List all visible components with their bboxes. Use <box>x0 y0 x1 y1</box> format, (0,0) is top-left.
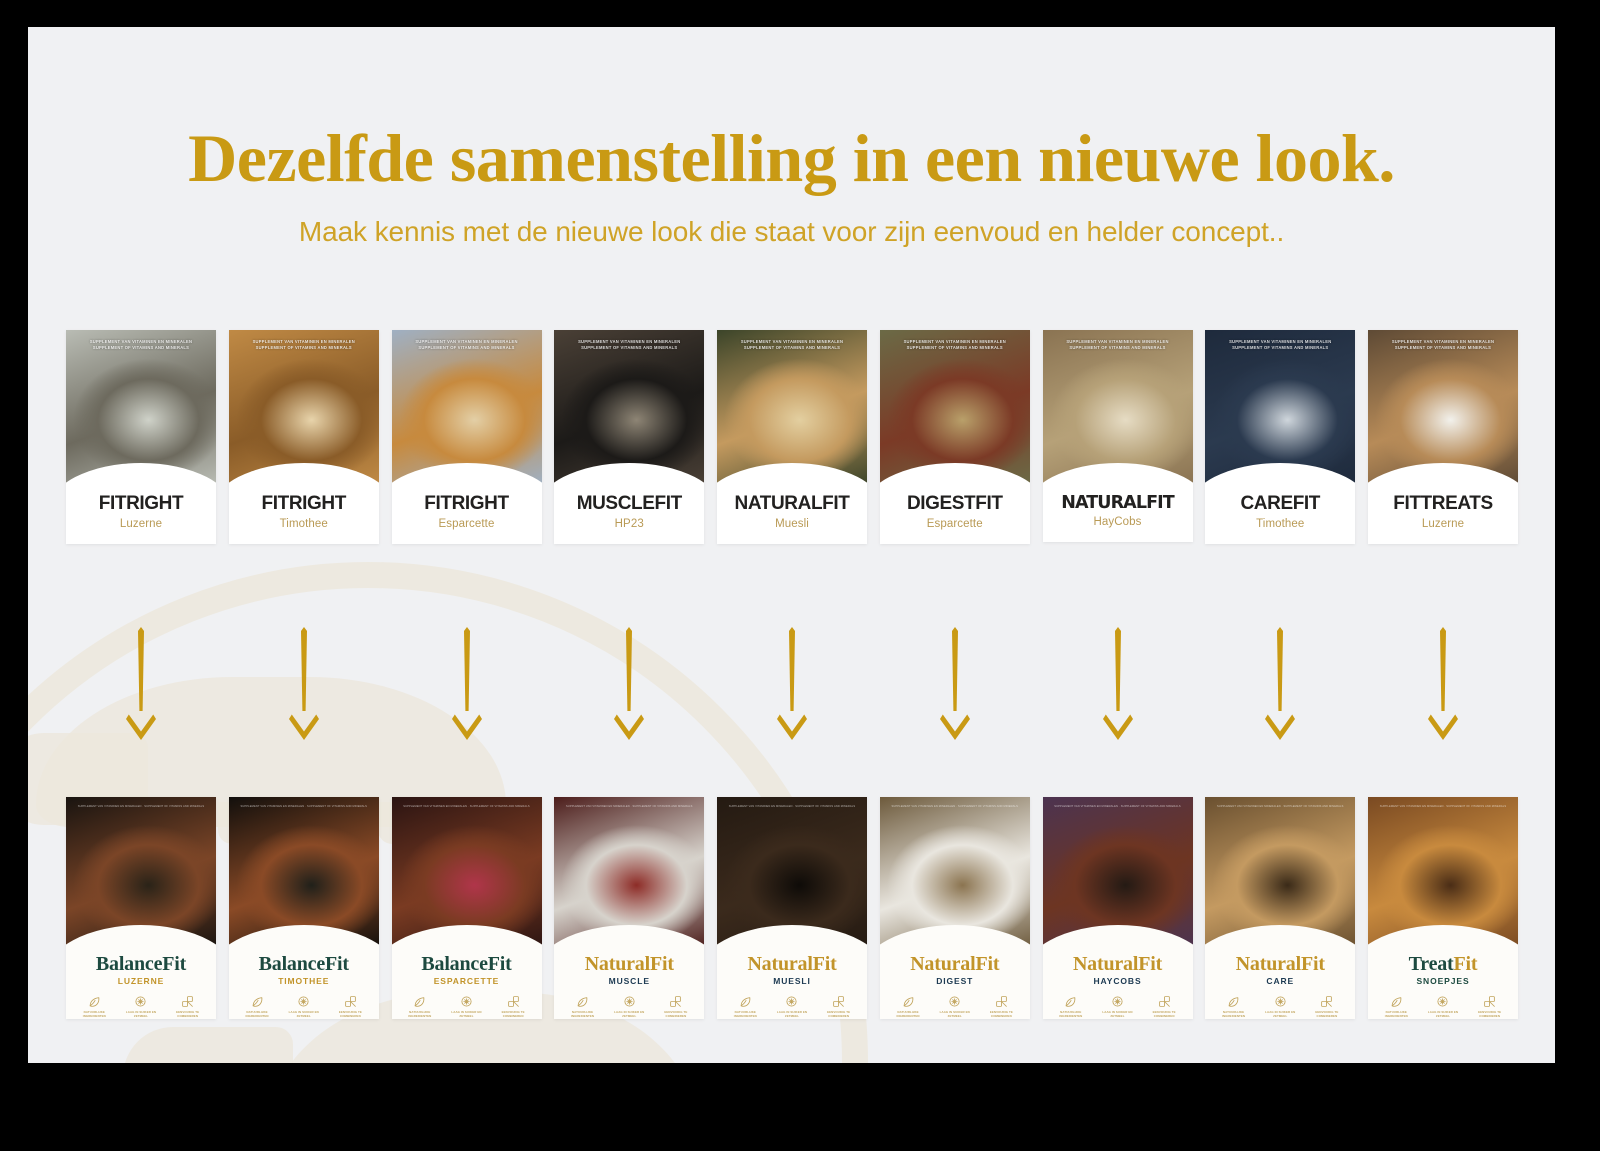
feature-badge-label: NATUURLIJKE INGREDIENTEN <box>1376 1011 1417 1019</box>
new-product-variant: CARE <box>1209 976 1351 986</box>
feature-badge: EENVOUDIG TE COMBINEREN <box>492 995 533 1019</box>
leaf-icon <box>74 995 115 1008</box>
old-product-photo: SUPPLEMENT VAN VITAMINEN EN MINERALENSUP… <box>1205 330 1355 485</box>
old-product-label: CAREFITTimothee <box>1205 485 1355 544</box>
new-product-brand: NaturalFit <box>558 953 700 975</box>
mix-icon <box>981 995 1022 1008</box>
old-product-photo: SUPPLEMENT VAN VITAMINEN EN MINERALENSUP… <box>1043 330 1193 485</box>
sugar-cube-icon <box>283 995 324 1008</box>
feature-badge: EENVOUDIG TE COMBINEREN <box>818 995 859 1019</box>
old-product-card[interactable]: SUPPLEMENT VAN VITAMINEN EN MINERALENSUP… <box>1043 330 1193 542</box>
new-product-card[interactable]: SUPPLEMENT VAN VITAMINEN EN MINERALEN · … <box>229 797 379 1019</box>
feature-badge-label: NATUURLIJKE INGREDIENTEN <box>887 1011 928 1019</box>
new-product-photo: SUPPLEMENT VAN VITAMINEN EN MINERALEN · … <box>1205 797 1355 949</box>
old-product-card[interactable]: SUPPLEMENT VAN VITAMINEN EN MINERALENSUP… <box>880 330 1030 544</box>
supplement-claim: SUPPLEMENT VAN VITAMINEN EN MINERALENSUP… <box>73 339 209 352</box>
feature-badge-label: EENVOUDIG TE COMBINEREN <box>655 1011 696 1019</box>
old-product-label: NATURALFITMuesli <box>717 485 867 544</box>
feature-badge: NATUURLIJKE INGREDIENTEN <box>562 995 603 1019</box>
old-product-name: FITTREATS <box>1372 493 1514 515</box>
new-product-label: BalanceFitLUZERNE <box>66 949 216 986</box>
old-product-photo: SUPPLEMENT VAN VITAMINEN EN MINERALENSUP… <box>880 330 1030 485</box>
new-product-photo: SUPPLEMENT VAN VITAMINEN EN MINERALEN · … <box>1043 797 1193 949</box>
feature-badge-label: EENVOUDIG TE COMBINEREN <box>1143 1011 1184 1019</box>
new-product-label: NaturalFitDIGEST <box>880 949 1030 986</box>
sugar-cube-icon <box>771 995 812 1008</box>
feature-badge-label: EENVOUDIG TE COMBINEREN <box>1306 1011 1347 1019</box>
old-product-variant: Luzerne <box>1372 518 1514 530</box>
old-product-photo: SUPPLEMENT VAN VITAMINEN EN MINERALENSUP… <box>229 330 379 485</box>
old-product-variant: Esparcette <box>884 518 1026 530</box>
old-product-variant: Timothee <box>233 518 375 530</box>
feature-badge: EENVOUDIG TE COMBINEREN <box>1306 995 1347 1019</box>
down-arrow-icon <box>1263 627 1297 747</box>
new-product-photo: SUPPLEMENT VAN VITAMINEN EN MINERALEN · … <box>66 797 216 949</box>
feature-badge: EENVOUDIG TE COMBINEREN <box>1469 995 1510 1019</box>
supplement-claim: SUPPLEMENT VAN VITAMINEN EN MINERALEN · … <box>237 805 371 809</box>
old-product-label: FITTREATSLuzerne <box>1368 485 1518 544</box>
feature-badges: NATUURLIJKE INGREDIENTENLAAG IN SUIKER E… <box>66 986 216 1019</box>
feature-badge-label: EENVOUDIG TE COMBINEREN <box>330 1011 371 1019</box>
feature-badge-label: EENVOUDIG TE COMBINEREN <box>492 1011 533 1019</box>
old-product-card[interactable]: SUPPLEMENT VAN VITAMINEN EN MINERALENSUP… <box>229 330 379 544</box>
mix-icon <box>655 995 696 1008</box>
new-product-photo: SUPPLEMENT VAN VITAMINEN EN MINERALEN · … <box>554 797 704 949</box>
feature-badge-label: NATUURLIJKE INGREDIENTEN <box>1213 1011 1254 1019</box>
leaf-icon <box>725 995 766 1008</box>
down-arrow-icon <box>287 627 321 747</box>
leaf-icon <box>887 995 928 1008</box>
new-product-label: BalanceFitTIMOTHEE <box>229 949 379 986</box>
horse-photo <box>554 330 704 485</box>
new-product-brand: NaturalFit <box>1047 953 1189 975</box>
new-product-card[interactable]: SUPPLEMENT VAN VITAMINEN EN MINERALEN · … <box>66 797 216 1019</box>
mix-icon <box>330 995 371 1008</box>
new-product-card[interactable]: SUPPLEMENT VAN VITAMINEN EN MINERALEN · … <box>717 797 867 1019</box>
old-product-name: CAREFIT <box>1209 493 1351 515</box>
sugar-cube-icon <box>120 995 161 1008</box>
old-product-name: NATURALFIT <box>1047 493 1189 513</box>
old-product-photo: SUPPLEMENT VAN VITAMINEN EN MINERALENSUP… <box>66 330 216 485</box>
old-product-variant: HP23 <box>558 518 700 530</box>
new-product-variant: TIMOTHEE <box>233 976 375 986</box>
feature-badge: NATUURLIJKE INGREDIENTEN <box>725 995 766 1019</box>
arrow-cell <box>1368 627 1518 747</box>
feature-badge: LAAG IN SUIKER EN ZETMEEL <box>771 995 812 1019</box>
feature-badge-label: LAAG IN SUIKER EN ZETMEEL <box>120 1011 161 1019</box>
feature-badge: NATUURLIJKE INGREDIENTEN <box>399 995 440 1019</box>
old-product-variant: Muesli <box>721 518 863 530</box>
arrow-cell <box>66 627 216 747</box>
feature-badge: EENVOUDIG TE COMBINEREN <box>167 995 208 1019</box>
supplement-claim: SUPPLEMENT VAN VITAMINEN EN MINERALEN · … <box>562 805 696 809</box>
old-product-label: FITRIGHTEsparcette <box>392 485 542 544</box>
new-product-variant: DIGEST <box>884 976 1026 986</box>
feature-badge: NATUURLIJKE INGREDIENTEN <box>1376 995 1417 1019</box>
new-product-label: NaturalFitMUSCLE <box>554 949 704 986</box>
old-product-label: FITRIGHTTimothee <box>229 485 379 544</box>
new-product-card[interactable]: SUPPLEMENT VAN VITAMINEN EN MINERALEN · … <box>880 797 1030 1019</box>
arrow-cell <box>1043 627 1193 747</box>
sugar-cube-icon <box>609 995 650 1008</box>
down-arrow-icon <box>775 627 809 747</box>
feature-badges: NATUURLIJKE INGREDIENTENLAAG IN SUIKER E… <box>392 986 542 1019</box>
feature-badge: LAAG IN SUIKER EN ZETMEEL <box>1260 995 1301 1019</box>
new-product-card[interactable]: SUPPLEMENT VAN VITAMINEN EN MINERALEN · … <box>554 797 704 1019</box>
new-product-brand: NaturalFit <box>1209 953 1351 975</box>
feature-badge: LAAG IN SUIKER EN ZETMEEL <box>1422 995 1463 1019</box>
new-product-label: NaturalFitMUESLI <box>717 949 867 986</box>
down-arrow-icon <box>124 627 158 747</box>
new-product-brand: TreatFit <box>1372 953 1514 975</box>
feature-badges: NATUURLIJKE INGREDIENTENLAAG IN SUIKER E… <box>717 986 867 1019</box>
new-product-card[interactable]: SUPPLEMENT VAN VITAMINEN EN MINERALEN · … <box>1205 797 1355 1019</box>
leaf-icon <box>1050 995 1091 1008</box>
supplement-claim: SUPPLEMENT VAN VITAMINEN EN MINERALEN · … <box>1213 805 1347 809</box>
feature-badge: NATUURLIJKE INGREDIENTEN <box>1050 995 1091 1019</box>
horse-photo <box>717 330 867 485</box>
page-title: Dezelfde samenstelling in een nieuwe loo… <box>28 123 1555 194</box>
old-product-name: NATURALFIT <box>721 493 863 515</box>
feature-badge: EENVOUDIG TE COMBINEREN <box>655 995 696 1019</box>
sugar-cube-icon <box>446 995 487 1008</box>
down-arrow-icon <box>938 627 972 747</box>
horse-photo <box>1205 330 1355 485</box>
old-product-card[interactable]: SUPPLEMENT VAN VITAMINEN EN MINERALENSUP… <box>717 330 867 544</box>
arrow-cell <box>392 627 542 747</box>
heading-block: Dezelfde samenstelling in een nieuwe loo… <box>28 123 1555 248</box>
feature-badges: NATUURLIJKE INGREDIENTENLAAG IN SUIKER E… <box>1043 986 1193 1019</box>
mix-icon <box>1143 995 1184 1008</box>
feature-badges: NATUURLIJKE INGREDIENTENLAAG IN SUIKER E… <box>1368 986 1518 1019</box>
new-product-label: NaturalFitHAYCOBS <box>1043 949 1193 986</box>
poster-page: Dezelfde samenstelling in een nieuwe loo… <box>28 27 1555 1063</box>
feature-badge-label: NATUURLIJKE INGREDIENTEN <box>725 1011 766 1019</box>
feature-badge-label: NATUURLIJKE INGREDIENTEN <box>399 1011 440 1019</box>
feature-badge-label: LAAG IN SUIKER EN ZETMEEL <box>934 1011 975 1019</box>
old-product-name: FITRIGHT <box>233 493 375 515</box>
old-product-photo: SUPPLEMENT VAN VITAMINEN EN MINERALENSUP… <box>554 330 704 485</box>
arrow-cell <box>554 627 704 747</box>
mix-icon <box>818 995 859 1008</box>
arrow-cell <box>1205 627 1355 747</box>
supplement-claim: SUPPLEMENT VAN VITAMINEN EN MINERALEN · … <box>1051 805 1185 809</box>
new-product-brand: NaturalFit <box>721 953 863 975</box>
old-product-label: FITRIGHTLuzerne <box>66 485 216 544</box>
feature-badge-label: EENVOUDIG TE COMBINEREN <box>1469 1011 1510 1019</box>
down-arrow-icon <box>1101 627 1135 747</box>
leaf-icon <box>562 995 603 1008</box>
mix-icon <box>492 995 533 1008</box>
horse-photo <box>392 330 542 485</box>
old-product-photo: SUPPLEMENT VAN VITAMINEN EN MINERALENSUP… <box>392 330 542 485</box>
feature-badge-label: LAAG IN SUIKER EN ZETMEEL <box>771 1011 812 1019</box>
feature-badge: LAAG IN SUIKER EN ZETMEEL <box>1097 995 1138 1019</box>
old-product-name: DIGESTFIT <box>884 493 1026 515</box>
new-product-card[interactable]: SUPPLEMENT VAN VITAMINEN EN MINERALEN · … <box>1368 797 1518 1019</box>
feature-badge-label: NATUURLIJKE INGREDIENTEN <box>74 1011 115 1019</box>
horse-photo <box>66 330 216 485</box>
leaf-icon <box>1376 995 1417 1008</box>
new-product-variant: MUESLI <box>721 976 863 986</box>
feature-badge: EENVOUDIG TE COMBINEREN <box>330 995 371 1019</box>
leaf-icon <box>399 995 440 1008</box>
old-product-card[interactable]: SUPPLEMENT VAN VITAMINEN EN MINERALENSUP… <box>392 330 542 544</box>
supplement-claim: SUPPLEMENT VAN VITAMINEN EN MINERALEN · … <box>400 805 534 809</box>
new-product-variant: LUZERNE <box>70 976 212 986</box>
old-product-photo: SUPPLEMENT VAN VITAMINEN EN MINERALENSUP… <box>717 330 867 485</box>
supplement-claim: SUPPLEMENT VAN VITAMINEN EN MINERALENSUP… <box>1212 339 1348 352</box>
horse-photo <box>229 330 379 485</box>
supplement-claim: SUPPLEMENT VAN VITAMINEN EN MINERALENSUP… <box>399 339 535 352</box>
new-product-card[interactable]: SUPPLEMENT VAN VITAMINEN EN MINERALEN · … <box>1043 797 1193 1019</box>
feature-badges: NATUURLIJKE INGREDIENTENLAAG IN SUIKER E… <box>229 986 379 1019</box>
down-arrow-icon <box>1426 627 1460 747</box>
old-product-label: DIGESTFITEsparcette <box>880 485 1030 544</box>
feature-badges: NATUURLIJKE INGREDIENTENLAAG IN SUIKER E… <box>1205 986 1355 1019</box>
watermark-horse-head-2 <box>123 1027 293 1063</box>
old-product-name: FITRIGHT <box>396 493 538 515</box>
old-product-label: NATURALFITHayCobs <box>1043 485 1193 542</box>
old-product-card[interactable]: SUPPLEMENT VAN VITAMINEN EN MINERALENSUP… <box>1205 330 1355 544</box>
new-product-variant: ESPARCETTE <box>396 976 538 986</box>
feature-badge: NATUURLIJKE INGREDIENTEN <box>1213 995 1254 1019</box>
new-product-label: TreatFitSNOEPJES <box>1368 949 1518 986</box>
feature-badge: NATUURLIJKE INGREDIENTEN <box>887 995 928 1019</box>
new-products-row: SUPPLEMENT VAN VITAMINEN EN MINERALEN · … <box>66 797 1518 1019</box>
old-product-name: FITRIGHT <box>70 493 212 515</box>
horse-photo <box>1368 330 1518 485</box>
new-product-variant: SNOEPJES <box>1372 976 1514 986</box>
down-arrow-icon <box>612 627 646 747</box>
feature-badge: LAAG IN SUIKER EN ZETMEEL <box>609 995 650 1019</box>
page-subtitle: Maak kennis met de nieuwe look die staat… <box>28 216 1555 248</box>
feature-badges: NATUURLIJKE INGREDIENTENLAAG IN SUIKER E… <box>554 986 704 1019</box>
feature-badge: NATUURLIJKE INGREDIENTEN <box>74 995 115 1019</box>
new-product-brand: BalanceFit <box>396 953 538 975</box>
feature-badge: NATUURLIJKE INGREDIENTEN <box>236 995 277 1019</box>
feature-badge-label: LAAG IN SUIKER EN ZETMEEL <box>1422 1011 1463 1019</box>
old-products-row: SUPPLEMENT VAN VITAMINEN EN MINERALENSUP… <box>66 330 1518 544</box>
mix-icon <box>1306 995 1347 1008</box>
arrow-cell <box>880 627 1030 747</box>
new-product-brand: BalanceFit <box>70 953 212 975</box>
new-product-brand: NaturalFit <box>884 953 1026 975</box>
supplement-claim: SUPPLEMENT VAN VITAMINEN EN MINERALENSUP… <box>236 339 372 352</box>
new-product-label: BalanceFitESPARCETTE <box>392 949 542 986</box>
feature-badge-label: LAAG IN SUIKER EN ZETMEEL <box>1260 1011 1301 1019</box>
feature-badge: LAAG IN SUIKER EN ZETMEEL <box>120 995 161 1019</box>
supplement-claim: SUPPLEMENT VAN VITAMINEN EN MINERALENSUP… <box>887 339 1023 352</box>
supplement-claim: SUPPLEMENT VAN VITAMINEN EN MINERALENSUP… <box>1375 339 1511 352</box>
mix-icon <box>167 995 208 1008</box>
new-product-photo: SUPPLEMENT VAN VITAMINEN EN MINERALEN · … <box>392 797 542 949</box>
supplement-claim: SUPPLEMENT VAN VITAMINEN EN MINERALEN · … <box>74 805 208 809</box>
new-product-variant: MUSCLE <box>558 976 700 986</box>
new-product-label: NaturalFitCARE <box>1205 949 1355 986</box>
supplement-claim: SUPPLEMENT VAN VITAMINEN EN MINERALEN · … <box>725 805 859 809</box>
leaf-icon <box>236 995 277 1008</box>
old-product-variant: Esparcette <box>396 518 538 530</box>
supplement-claim: SUPPLEMENT VAN VITAMINEN EN MINERALEN · … <box>1376 805 1510 809</box>
new-product-card[interactable]: SUPPLEMENT VAN VITAMINEN EN MINERALEN · … <box>392 797 542 1019</box>
old-product-card[interactable]: SUPPLEMENT VAN VITAMINEN EN MINERALENSUP… <box>554 330 704 544</box>
new-product-photo: SUPPLEMENT VAN VITAMINEN EN MINERALEN · … <box>229 797 379 949</box>
feature-badge: LAAG IN SUIKER EN ZETMEEL <box>934 995 975 1019</box>
supplement-claim: SUPPLEMENT VAN VITAMINEN EN MINERALEN · … <box>888 805 1022 809</box>
old-product-name: MUSCLEFIT <box>558 493 700 515</box>
feature-badge: LAAG IN SUIKER EN ZETMEEL <box>283 995 324 1019</box>
new-product-photo: SUPPLEMENT VAN VITAMINEN EN MINERALEN · … <box>880 797 1030 949</box>
feature-badge-label: LAAG IN SUIKER EN ZETMEEL <box>609 1011 650 1019</box>
supplement-claim: SUPPLEMENT VAN VITAMINEN EN MINERALENSUP… <box>724 339 860 352</box>
transition-arrows <box>66 627 1518 747</box>
feature-badge: LAAG IN SUIKER EN ZETMEEL <box>446 995 487 1019</box>
arrow-cell <box>717 627 867 747</box>
new-product-variant: HAYCOBS <box>1047 976 1189 986</box>
old-product-photo: SUPPLEMENT VAN VITAMINEN EN MINERALENSUP… <box>1368 330 1518 485</box>
arrow-cell <box>229 627 379 747</box>
feature-badges: NATUURLIJKE INGREDIENTENLAAG IN SUIKER E… <box>880 986 1030 1019</box>
feature-badge-label: LAAG IN SUIKER EN ZETMEEL <box>446 1011 487 1019</box>
old-product-variant: HayCobs <box>1047 516 1189 528</box>
feature-badge-label: NATUURLIJKE INGREDIENTEN <box>562 1011 603 1019</box>
feature-badge: EENVOUDIG TE COMBINEREN <box>1143 995 1184 1019</box>
leaf-icon <box>1213 995 1254 1008</box>
feature-badge-label: LAAG IN SUIKER EN ZETMEEL <box>283 1011 324 1019</box>
horse-photo <box>880 330 1030 485</box>
new-product-brand: BalanceFit <box>233 953 375 975</box>
horse-photo <box>1043 330 1193 485</box>
sugar-cube-icon <box>1097 995 1138 1008</box>
feature-badge: EENVOUDIG TE COMBINEREN <box>981 995 1022 1019</box>
new-product-photo: SUPPLEMENT VAN VITAMINEN EN MINERALEN · … <box>717 797 867 949</box>
down-arrow-icon <box>450 627 484 747</box>
new-product-photo: SUPPLEMENT VAN VITAMINEN EN MINERALEN · … <box>1368 797 1518 949</box>
old-product-card[interactable]: SUPPLEMENT VAN VITAMINEN EN MINERALENSUP… <box>66 330 216 544</box>
old-product-card[interactable]: SUPPLEMENT VAN VITAMINEN EN MINERALENSUP… <box>1368 330 1518 544</box>
feature-badge-label: EENVOUDIG TE COMBINEREN <box>981 1011 1022 1019</box>
feature-badge-label: LAAG IN SUIKER EN ZETMEEL <box>1097 1011 1138 1019</box>
old-product-label: MUSCLEFITHP23 <box>554 485 704 544</box>
sugar-cube-icon <box>1422 995 1463 1008</box>
old-product-variant: Timothee <box>1209 518 1351 530</box>
sugar-cube-icon <box>1260 995 1301 1008</box>
feature-badge-label: NATUURLIJKE INGREDIENTEN <box>1050 1011 1091 1019</box>
feature-badge-label: EENVOUDIG TE COMBINEREN <box>818 1011 859 1019</box>
feature-badge-label: NATUURLIJKE INGREDIENTEN <box>236 1011 277 1019</box>
sugar-cube-icon <box>934 995 975 1008</box>
feature-badge-label: EENVOUDIG TE COMBINEREN <box>167 1011 208 1019</box>
old-product-variant: Luzerne <box>70 518 212 530</box>
mix-icon <box>1469 995 1510 1008</box>
supplement-claim: SUPPLEMENT VAN VITAMINEN EN MINERALENSUP… <box>561 339 697 352</box>
supplement-claim: SUPPLEMENT VAN VITAMINEN EN MINERALENSUP… <box>1050 339 1186 352</box>
